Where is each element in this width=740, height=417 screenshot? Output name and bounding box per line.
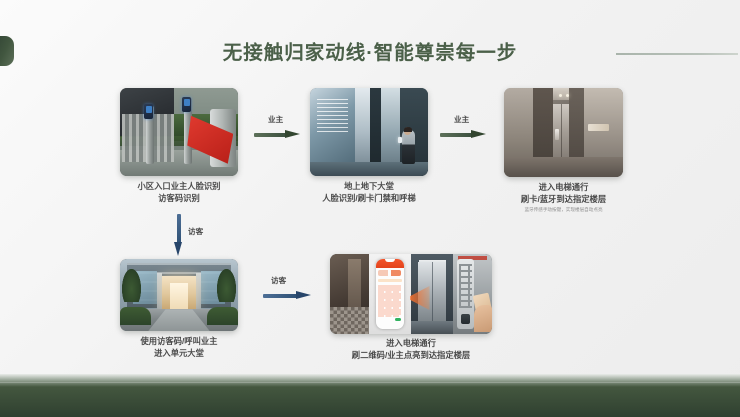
arrow-gate-to-entrance-label: 访客 xyxy=(188,226,203,237)
arrow-lobby-to-elevator-label: 业主 xyxy=(454,114,469,125)
composite-panel-call-panel xyxy=(453,254,492,334)
arrow-entrance-to-qr: 访客 xyxy=(263,275,319,307)
page-title: 无接触归家动线·智能尊崇每一步 xyxy=(0,36,740,65)
caption-gate: 小区入口业主人脸识别 访客码识别 xyxy=(120,181,238,205)
photo-elevator-qr-composite xyxy=(330,254,492,334)
caption-gate-line1: 小区入口业主人脸识别 xyxy=(120,181,238,193)
arrow-gate-to-entrance: 访客 xyxy=(174,212,220,258)
footer-divider-line xyxy=(0,382,740,384)
arrow-gate-to-lobby: 业主 xyxy=(254,114,306,146)
caption-lobby-line2: 人脸识别/刷卡门禁和呼梯 xyxy=(300,193,438,205)
caption-elevator-access-line3: 蓝牙传感手动按键，实现楼层自动点亮 xyxy=(494,207,633,214)
footer-band xyxy=(0,374,740,417)
composite-panel-qr-scan xyxy=(411,254,453,334)
caption-elevator-qr-line2: 刷二维码/业主点亮到达指定楼层 xyxy=(327,350,495,362)
caption-elevator-qr: 进入电梯通行 刷二维码/业主点亮到达指定楼层 xyxy=(327,338,495,362)
arrow-right-icon xyxy=(440,130,486,139)
caption-lobby: 地上地下大堂 人脸识别/刷卡门禁和呼梯 xyxy=(300,181,438,205)
caption-unit-entrance-line1: 使用访客码/呼叫业主 xyxy=(115,336,243,348)
photo-lobby-access xyxy=(310,88,428,176)
arrow-right-icon xyxy=(254,130,300,139)
caption-gate-line2: 访客码识别 xyxy=(120,193,238,205)
caption-unit-entrance: 使用访客码/呼叫业主 进入单元大堂 xyxy=(115,336,243,360)
arrow-lobby-to-elevator: 业主 xyxy=(440,114,492,146)
title-rule-line xyxy=(616,53,738,55)
caption-elevator-access: 进入电梯通行 刷卡/蓝牙到达指定楼层 蓝牙传感手动按键，实现楼层自动点亮 xyxy=(494,182,633,213)
composite-panel-elevator-interior xyxy=(330,254,369,334)
caption-elevator-qr-line1: 进入电梯通行 xyxy=(327,338,495,350)
caption-lobby-line1: 地上地下大堂 xyxy=(300,181,438,193)
composite-panel-mobile-app xyxy=(369,254,411,334)
photo-gate-face-recognition xyxy=(120,88,238,176)
caption-elevator-access-line2: 刷卡/蓝牙到达指定楼层 xyxy=(494,194,633,206)
photo-elevator-card-bluetooth xyxy=(504,88,623,177)
arrow-right-icon xyxy=(263,291,311,300)
slide-canvas: 无接触归家动线·智能尊崇每一步 小区入口业主人脸识别 访客码识别 业主 xyxy=(0,0,740,417)
arrow-entrance-to-qr-label: 访客 xyxy=(271,275,286,286)
caption-unit-entrance-line2: 进入单元大堂 xyxy=(115,348,243,360)
arrow-down-icon xyxy=(174,214,183,256)
arrow-gate-to-lobby-label: 业主 xyxy=(268,114,283,125)
photo-unit-entrance xyxy=(120,259,238,331)
caption-elevator-access-line1: 进入电梯通行 xyxy=(494,182,633,194)
